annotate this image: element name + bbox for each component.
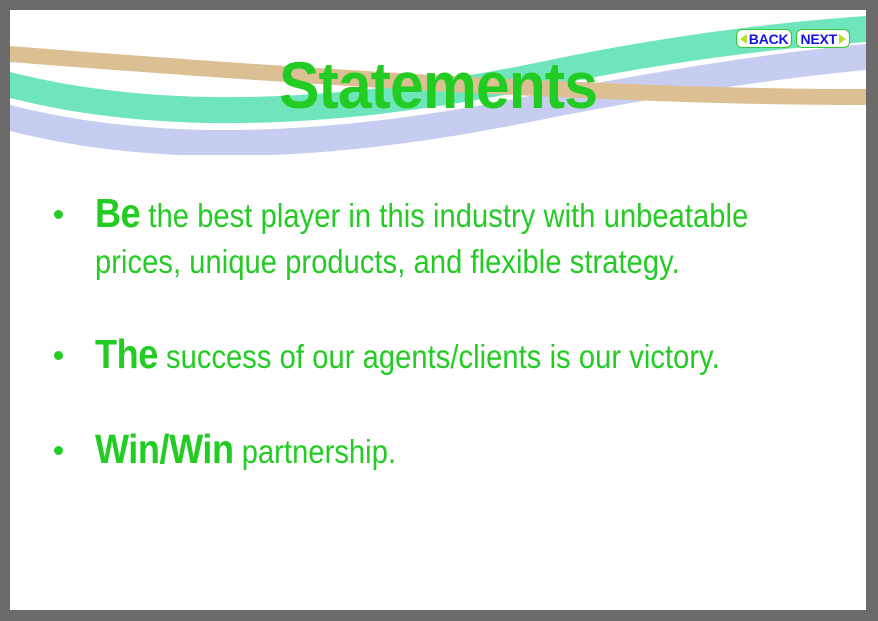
bullet-list: Be the best player in this industry with… (10, 190, 866, 475)
slide-frame: BACK NEXT Statements Be the best player … (0, 0, 878, 621)
bullet-lead: Win/Win (95, 426, 234, 472)
bullet-lead: Be (95, 190, 140, 236)
bullet-rest: success of our agents/clients is our vic… (158, 338, 720, 375)
list-item: Win/Win partnership. (10, 426, 866, 475)
back-button-label: BACK (749, 32, 789, 46)
next-button-label: NEXT (800, 32, 837, 46)
bullet-dot-icon (54, 446, 63, 455)
slide-canvas: BACK NEXT Statements Be the best player … (10, 10, 866, 610)
nav-buttons: BACK NEXT (736, 29, 850, 48)
triangle-right-icon (839, 34, 846, 44)
next-button[interactable]: NEXT (796, 29, 850, 48)
bullet-dot-icon (54, 351, 63, 360)
bullet-text: Be the best player in this industry with… (95, 190, 752, 285)
back-button[interactable]: BACK (736, 29, 793, 48)
bullet-text: The success of our agents/clients is our… (95, 331, 752, 380)
bullet-rest: partnership. (234, 433, 397, 470)
list-item: Be the best player in this industry with… (10, 190, 866, 285)
bullet-lead: The (95, 331, 158, 377)
bullet-dot-icon (54, 210, 63, 219)
bullet-text: Win/Win partnership. (95, 426, 752, 475)
page-title: Statements (44, 49, 832, 121)
bullet-rest: the best player in this industry with un… (95, 197, 748, 280)
triangle-left-icon (740, 34, 747, 44)
list-item: The success of our agents/clients is our… (10, 331, 866, 380)
